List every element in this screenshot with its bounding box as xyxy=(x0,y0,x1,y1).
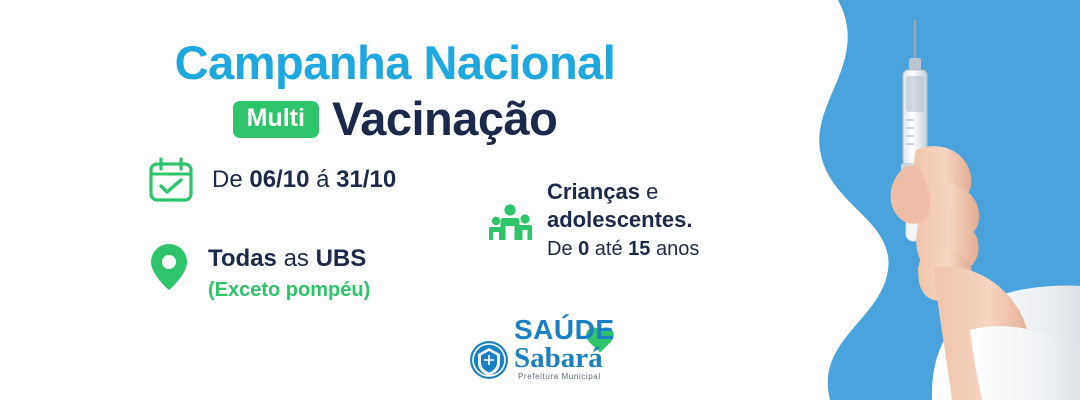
info-date-row: De 06/10 á 31/10 xyxy=(148,157,396,203)
audience-age-from: 0 xyxy=(578,238,589,260)
location-mid: as xyxy=(284,245,316,272)
location-note: (Exceto pompéu) xyxy=(208,279,370,302)
info-audience-row: Crianças e adolescentes. De 0 até 15 ano… xyxy=(487,178,699,263)
location-strong: UBS xyxy=(316,245,367,272)
audience-children: Crianças xyxy=(547,179,640,204)
headline: Campanha Nacional Multi Vacinação xyxy=(0,38,790,144)
audience-age-suffix: anos xyxy=(650,238,699,260)
audience-age-mid: até xyxy=(589,238,628,260)
date-end: 31/10 xyxy=(336,166,396,193)
headline-line1: Campanha Nacional xyxy=(0,38,790,87)
saude-sabara-logo: SAÚDE Sabará Prefeitura Municipal xyxy=(462,312,632,388)
audience-line2: adolescentes. xyxy=(547,206,699,235)
calendar-check-icon xyxy=(148,157,194,203)
location-prefix: Todas xyxy=(208,245,284,272)
audience-line1: Crianças e xyxy=(547,178,699,206)
vaccination-campaign-banner: Campanha Nacional Multi Vacinação De 06/… xyxy=(0,0,1080,400)
map-pin-icon xyxy=(148,242,190,292)
family-group-icon xyxy=(487,199,533,243)
headline-vacinacao: Vacinação xyxy=(332,94,557,143)
date-text: De 06/10 á 31/10 xyxy=(212,165,396,194)
audience-line3: De 0 até 15 anos xyxy=(547,236,699,263)
logo-graphic: SAÚDE Sabará Prefeitura Municipal xyxy=(462,312,632,388)
logo-word-sabara: Sabará xyxy=(514,342,603,374)
audience-age-to: 15 xyxy=(628,238,650,260)
date-start: 06/10 xyxy=(249,166,309,193)
logo-subtitle: Prefeitura Municipal xyxy=(518,372,601,381)
location-text-block: Todas as UBS (Exceto pompéu) xyxy=(208,242,370,302)
date-middle: á xyxy=(309,166,336,193)
audience-age-prefix: De xyxy=(547,238,578,260)
audience-text-block: Crianças e adolescentes. De 0 até 15 ano… xyxy=(547,178,699,263)
audience-line1-rest: e xyxy=(640,179,658,204)
date-prefix: De xyxy=(212,166,249,193)
logo-word-saude: SAÚDE xyxy=(514,314,615,345)
multi-badge: Multi xyxy=(233,101,319,138)
headline-line2-row: Multi Vacinação xyxy=(0,94,790,143)
info-location-row: Todas as UBS (Exceto pompéu) xyxy=(148,242,370,302)
city-crest-icon xyxy=(470,341,508,379)
location-text: Todas as UBS xyxy=(208,244,370,273)
